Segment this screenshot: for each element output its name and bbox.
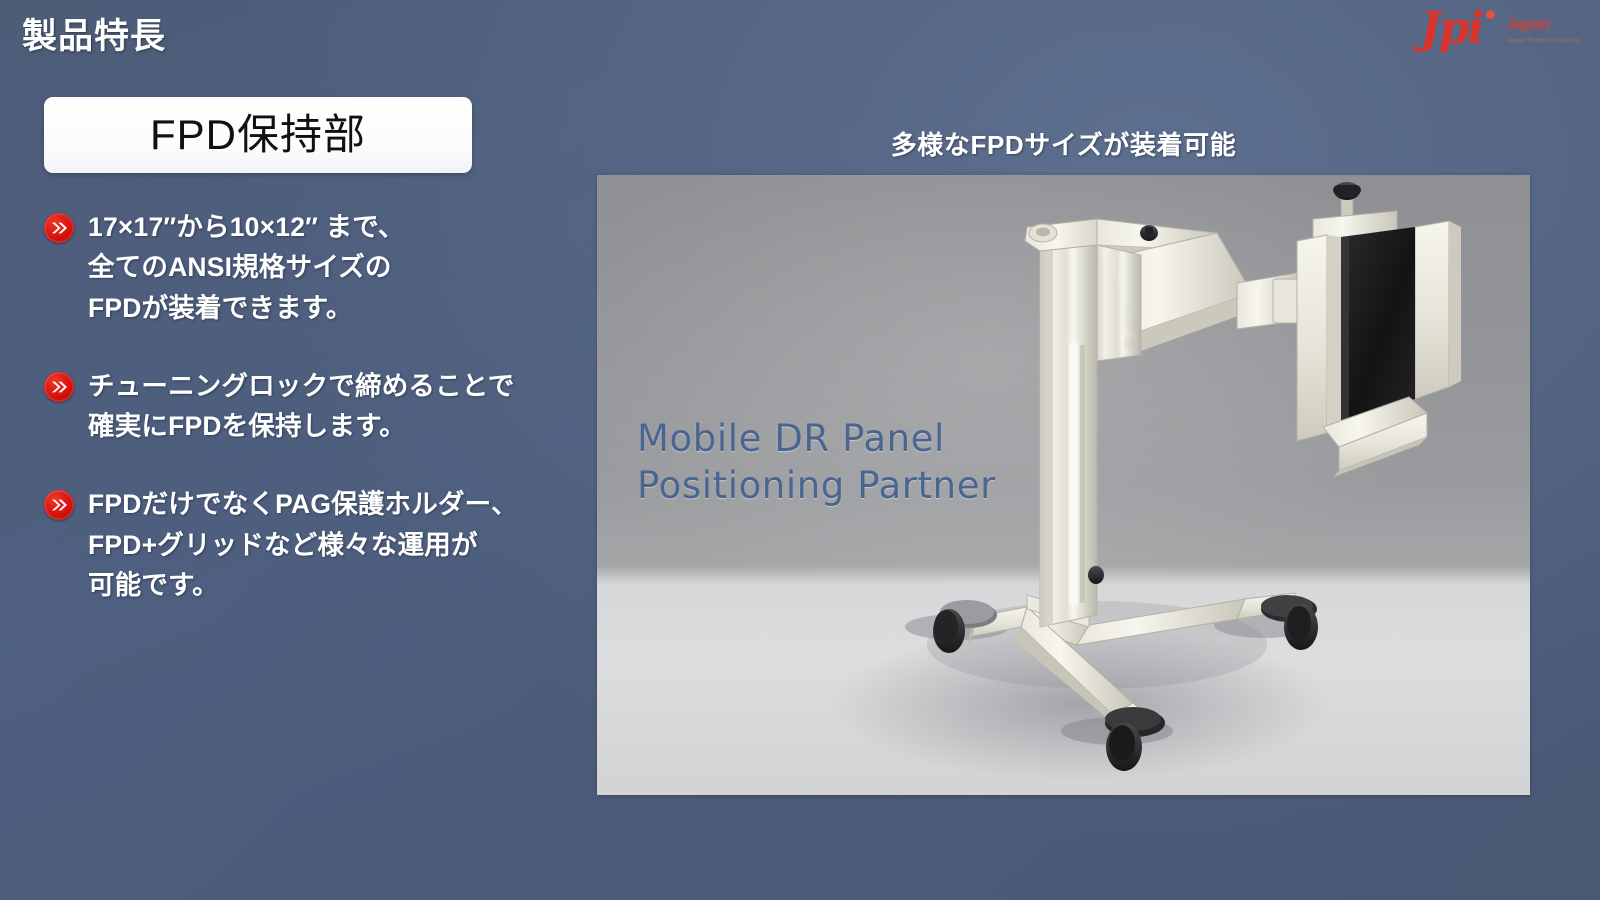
list-item-text: 17×17″から10×12″ まで、 全てのANSI規格サイズの FPDが装着で…: [88, 207, 405, 328]
bullet-line: FPD+グリッドなど様々な運用が: [88, 525, 518, 565]
list-item-text: チューニングロックで締めることで 確実にFPDを保持します。: [88, 366, 514, 447]
logo-subtitle-text: Japan Protein Industry: [1506, 37, 1580, 44]
feature-bullet-list: 17×17″から10×12″ まで、 全てのANSI規格サイズの FPDが装着で…: [44, 207, 604, 643]
bullet-line: 全てのANSI規格サイズの: [88, 247, 405, 287]
bullet-line: FPDだけでなくPAG保護ホルダー、: [88, 484, 518, 524]
logo-dot-icon: [1486, 10, 1495, 19]
list-item-text: FPDだけでなくPAG保護ホルダー、 FPD+グリッドなど様々な運用が 可能です…: [88, 484, 518, 605]
mobile-dr-panel-stand-photo: Mobile DR Panel Positioning Partner: [597, 175, 1530, 795]
list-item: FPDだけでなくPAG保護ホルダー、 FPD+グリッドなど様々な運用が 可能です…: [44, 484, 604, 605]
bullet-line: 可能です。: [88, 565, 518, 605]
section-heading-box: FPD保持部: [44, 97, 472, 173]
photo-caption: 多様なFPDサイズが装着可能: [597, 125, 1530, 162]
bullet-line: 確実にFPDを保持します。: [88, 406, 514, 446]
bullet-line: チューニングロックで締めることで: [88, 366, 514, 406]
chevron-circle-icon: [44, 372, 74, 402]
section-heading-label: FPD保持部: [150, 114, 366, 156]
page-title: 製品特長: [22, 8, 166, 59]
overlay-line: Mobile DR Panel: [637, 415, 996, 462]
photo-overlay-text: Mobile DR Panel Positioning Partner: [637, 415, 996, 510]
slide-canvas: 製品特長 Jpi Japan Japan Protein Industry FP…: [0, 0, 1600, 900]
list-item: 17×17″から10×12″ まで、 全てのANSI規格サイズの FPDが装着で…: [44, 207, 604, 328]
bullet-line: FPDが装着できます。: [88, 288, 405, 328]
logo-mark-text: Jpi: [1420, 4, 1482, 54]
overlay-line: Positioning Partner: [637, 462, 996, 509]
bullet-line: 17×17″から10×12″ まで、: [88, 207, 405, 247]
logo-word-text: Japan: [1506, 16, 1550, 34]
chevron-circle-icon: [44, 213, 74, 243]
chevron-circle-icon: [44, 490, 74, 520]
jpi-logo: Jpi Japan Japan Protein Industry: [1414, 4, 1582, 58]
list-item: チューニングロックで締めることで 確実にFPDを保持します。: [44, 366, 604, 447]
